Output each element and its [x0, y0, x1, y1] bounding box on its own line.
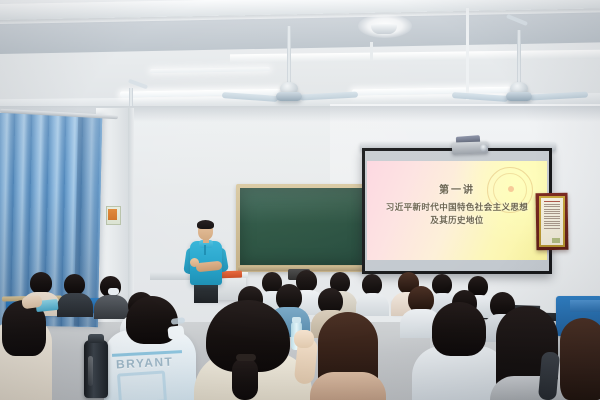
presentation-slide: 第一讲 习近平新时代中国特色社会主义思想 及其历史地位: [367, 161, 547, 260]
ceiling-fan-rod-3: [517, 30, 521, 88]
placard-text-line: [544, 206, 560, 207]
jersey-text: BRYANT: [116, 355, 174, 372]
slide-subtitle-line-1: 习近平新时代中国特色社会主义思想: [373, 201, 541, 213]
ceiling-hanger-rod-2: [370, 42, 373, 60]
small-orange-wall-sign: [108, 209, 117, 220]
student-shoulders: [490, 376, 570, 400]
placard-seal: [552, 238, 560, 243]
ceiling-fan-motor-2: [276, 92, 302, 101]
student-head: [432, 274, 452, 295]
student-hair: [432, 302, 486, 356]
student-head: [64, 274, 85, 295]
bottle-cap: [292, 317, 301, 323]
placard-text-line: [544, 221, 560, 222]
blackboard-glare: [240, 188, 364, 224]
lecturer-hand: [190, 258, 199, 267]
placard-text-line: [544, 209, 560, 210]
placard-text-line: [544, 213, 560, 214]
student-head: [30, 272, 52, 294]
jersey-number: [117, 370, 167, 400]
lecturer-shirt-placket: [204, 245, 206, 255]
face-mask: [108, 288, 119, 295]
slide-title: 第一讲: [367, 181, 547, 196]
ceiling-hanger-rod: [466, 8, 469, 100]
student-head: [362, 274, 382, 295]
placard-text-line: [544, 223, 560, 224]
student-shoulders: [57, 293, 93, 317]
placard-text-line: [544, 204, 560, 205]
placard-text-line: [544, 201, 560, 202]
student-hair: [560, 318, 600, 400]
slide-subtitle-line-2: 及其历史地位: [373, 214, 541, 226]
ceiling-lamp: [371, 24, 397, 34]
bottle-highlight: [88, 356, 93, 386]
student-shoulders: [356, 293, 389, 316]
ceiling-fan-rod-2: [287, 26, 291, 88]
placard-text-line: [544, 228, 560, 229]
chair-back: [570, 300, 600, 312]
student-shoulders: [310, 372, 386, 400]
lecturer-legs: [194, 283, 218, 303]
student-shoulders: [94, 295, 129, 319]
student-hand: [294, 330, 314, 348]
classroom-photo: 第一讲 习近平新时代中国特色社会主义思想 及其历史地位: [0, 0, 600, 400]
ceiling-fan-motor-3: [506, 92, 532, 101]
face-mask: [167, 325, 184, 340]
lecturer-hair: [197, 220, 214, 229]
placard-text-line: [544, 218, 560, 219]
placard-text-line: [544, 216, 560, 217]
hair-tie: [236, 354, 256, 361]
placard-text-line: [544, 211, 560, 212]
ponytail: [232, 358, 258, 400]
placard-text-line: [544, 225, 560, 226]
projector-lens: [480, 144, 488, 152]
bottle-cap: [88, 334, 104, 343]
